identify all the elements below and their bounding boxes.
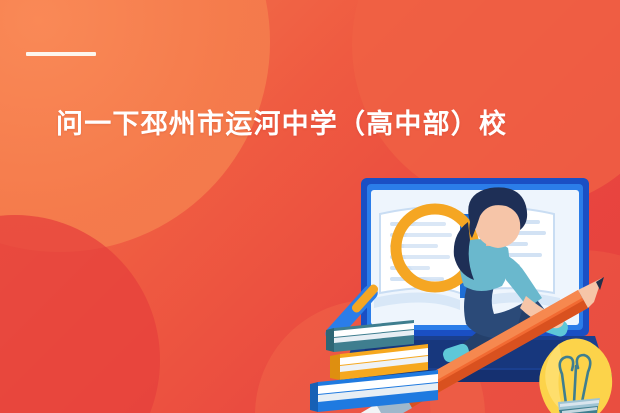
hero-illustration: [310, 178, 620, 413]
background-circle-bottom-left: [0, 215, 160, 413]
banner-card: 问一下邳州市运河中学（高中部）校: [0, 0, 620, 413]
decorative-rule: [26, 52, 96, 56]
page-title: 问一下邳州市运河中学（高中部）校: [56, 104, 596, 144]
